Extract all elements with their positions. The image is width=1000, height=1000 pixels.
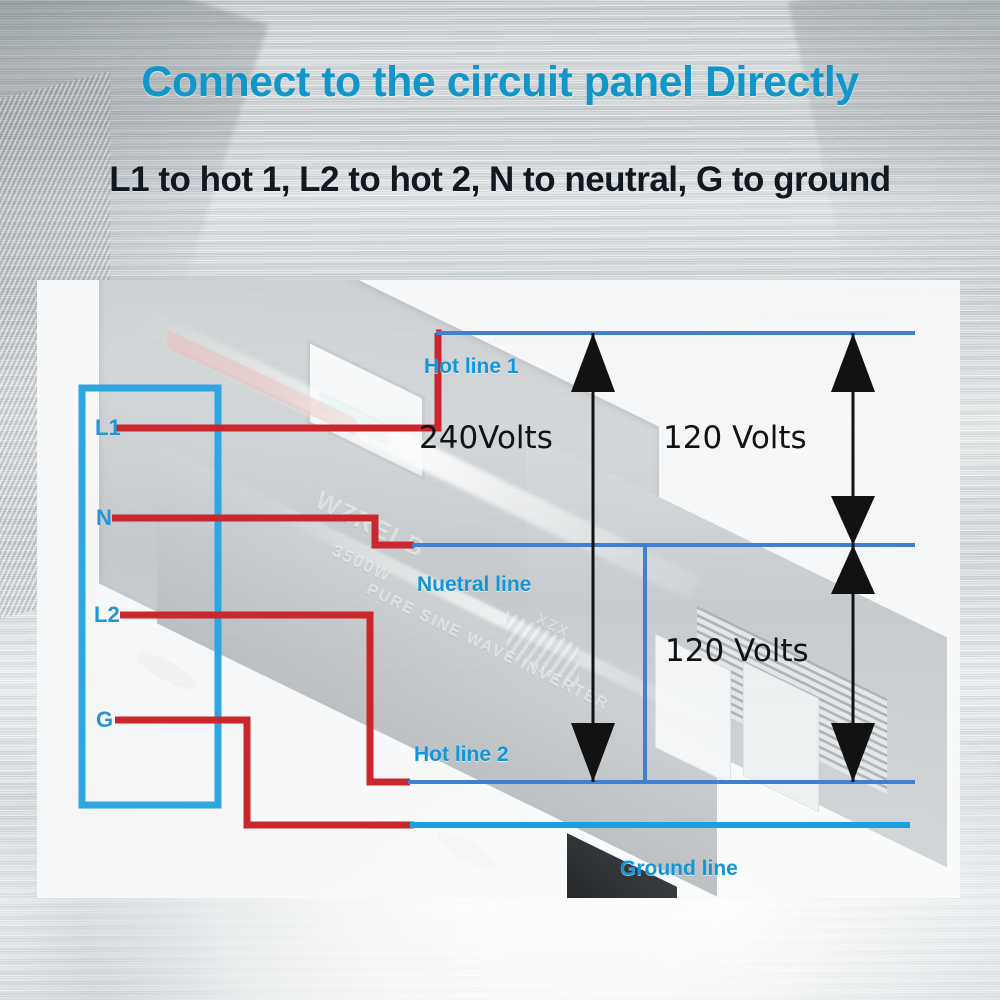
- voltage-label-120-lower: 120 Volts: [665, 633, 809, 669]
- wire-l2-to-hot2: [120, 615, 410, 782]
- wire-l1-to-hot1: [115, 333, 438, 428]
- arrowhead-240v-down: [571, 723, 615, 782]
- arrowhead-240v-up: [571, 333, 615, 392]
- voltage-label-240: 240Volts: [419, 420, 553, 456]
- terminal-box-outline: [82, 388, 218, 805]
- screenshot-root: Connect to the circuit panel Directly L1…: [0, 0, 1000, 1000]
- arrowhead-120v-upper-up: [831, 333, 875, 392]
- arrowhead-120v-upper-down: [831, 496, 875, 545]
- arrowhead-120v-lower-up: [831, 545, 875, 594]
- terminal-label-n: N: [96, 505, 112, 531]
- arrowhead-120v-lower-down: [831, 723, 875, 782]
- terminal-label-l1: L1: [95, 415, 121, 441]
- terminal-label-g: G: [96, 707, 113, 733]
- line-label-ground: Ground line: [620, 857, 738, 881]
- wiring-diagram: .red { stroke:#c9272d; stroke-width:7; f…: [0, 0, 1000, 1000]
- line-label-neutral: Nuetral line: [417, 573, 531, 597]
- wire-n-to-neutral: [112, 518, 414, 545]
- voltage-label-120-upper: 120 Volts: [663, 420, 807, 456]
- line-label-hot1: Hot line 1: [424, 355, 519, 379]
- line-label-hot2: Hot line 2: [414, 743, 509, 767]
- terminal-label-l2: L2: [94, 602, 120, 628]
